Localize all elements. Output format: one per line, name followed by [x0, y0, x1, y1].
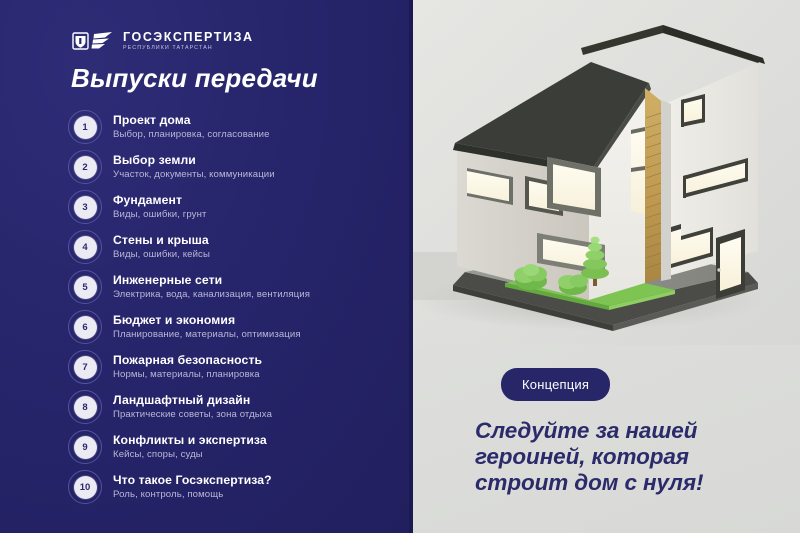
episode-title: Конфликты и экспертиза — [113, 433, 267, 447]
episode-number: 1 — [74, 116, 97, 139]
poster: ГОСЭКСПЕРТИЗА РЕСПУБЛИКИ ТАТАРСТАН Выпус… — [0, 0, 800, 533]
episode-number-badge: 9 — [68, 430, 102, 464]
episode-subtitle: Роль, контроль, помощь — [113, 488, 272, 501]
episode-number: 3 — [74, 196, 97, 219]
episode-subtitle: Виды, ошибки, кейсы — [113, 248, 210, 261]
episode-number: 8 — [74, 396, 97, 419]
episode-number: 6 — [74, 316, 97, 339]
list-item[interactable]: 3 Фундамент Виды, ошибки, грунт — [68, 187, 398, 227]
episode-number-badge: 4 — [68, 230, 102, 264]
brand-subtitle: РЕСПУБЛИКИ ТАТАРСТАН — [123, 46, 254, 51]
episode-number: 2 — [74, 156, 97, 179]
list-item[interactable]: 8 Ландшафтный дизайн Практические советы… — [68, 387, 398, 427]
concept-badge[interactable]: Концепция — [501, 368, 610, 401]
list-item[interactable]: 4 Стены и крыша Виды, ошибки, кейсы — [68, 227, 398, 267]
episode-title: Стены и крыша — [113, 233, 210, 247]
episode-number: 10 — [74, 476, 97, 499]
winged-emblem-icon — [72, 30, 116, 52]
episode-title: Проект дома — [113, 113, 270, 127]
episode-subtitle: Кейсы, споры, суды — [113, 448, 267, 461]
episode-number-badge: 7 — [68, 350, 102, 384]
episode-number: 4 — [74, 236, 97, 259]
episode-list: 1 Проект дома Выбор, планировка, согласо… — [68, 107, 398, 507]
episode-number-badge: 3 — [68, 190, 102, 224]
episode-number-badge: 6 — [68, 310, 102, 344]
list-item[interactable]: 1 Проект дома Выбор, планировка, согласо… — [68, 107, 398, 147]
brand-logo: ГОСЭКСПЕРТИЗА РЕСПУБЛИКИ ТАТАРСТАН — [72, 30, 254, 52]
list-item[interactable]: 10 Что такое Госэкспертиза? Роль, контро… — [68, 467, 398, 507]
episode-subtitle: Нормы, материалы, планировка — [113, 368, 262, 381]
episode-subtitle: Планирование, материалы, оптимизация — [113, 328, 301, 341]
episode-subtitle: Выбор, планировка, согласование — [113, 128, 270, 141]
list-item[interactable]: 6 Бюджет и экономия Планирование, матери… — [68, 307, 398, 347]
episode-number: 9 — [74, 436, 97, 459]
house-illustration — [413, 0, 800, 345]
episode-number-badge: 10 — [68, 470, 102, 504]
brand-name: ГОСЭКСПЕРТИЗА — [123, 31, 254, 44]
episode-title: Ландшафтный дизайн — [113, 393, 272, 407]
right-content-panel: Концепция Следуйте за нашей героиней, ко… — [413, 0, 800, 533]
episode-number: 7 — [74, 356, 97, 379]
left-navy-panel: ГОСЭКСПЕРТИЗА РЕСПУБЛИКИ ТАТАРСТАН Выпус… — [0, 0, 413, 533]
episode-number-badge: 5 — [68, 270, 102, 304]
page-title: Выпуски передачи — [71, 63, 318, 94]
list-item[interactable]: 5 Инженерные сети Электрика, вода, канал… — [68, 267, 398, 307]
episode-subtitle: Электрика, вода, канализация, вентиляция — [113, 288, 310, 301]
episode-title: Фундамент — [113, 193, 206, 207]
episode-title: Бюджет и экономия — [113, 313, 301, 327]
list-item[interactable]: 2 Выбор земли Участок, документы, коммун… — [68, 147, 398, 187]
headline: Следуйте за нашей героиней, которая стро… — [475, 418, 780, 496]
episode-number-badge: 1 — [68, 110, 102, 144]
episode-number: 5 — [74, 276, 97, 299]
episode-title: Что такое Госэкспертиза? — [113, 473, 272, 487]
list-item[interactable]: 7 Пожарная безопасность Нормы, материалы… — [68, 347, 398, 387]
episode-number-badge: 8 — [68, 390, 102, 424]
episode-subtitle: Виды, ошибки, грунт — [113, 208, 206, 221]
episode-title: Выбор земли — [113, 153, 275, 167]
episode-title: Инженерные сети — [113, 273, 310, 287]
episode-number-badge: 2 — [68, 150, 102, 184]
headline-line-1: Следуйте за нашей — [475, 418, 780, 444]
episode-title: Пожарная безопасность — [113, 353, 262, 367]
episode-subtitle: Участок, документы, коммуникации — [113, 168, 275, 181]
headline-line-2: героиней, которая — [475, 444, 780, 470]
episode-subtitle: Практические советы, зона отдыха — [113, 408, 272, 421]
list-item[interactable]: 9 Конфликты и экспертиза Кейсы, споры, с… — [68, 427, 398, 467]
headline-line-3: строит дом с нуля! — [475, 470, 780, 496]
